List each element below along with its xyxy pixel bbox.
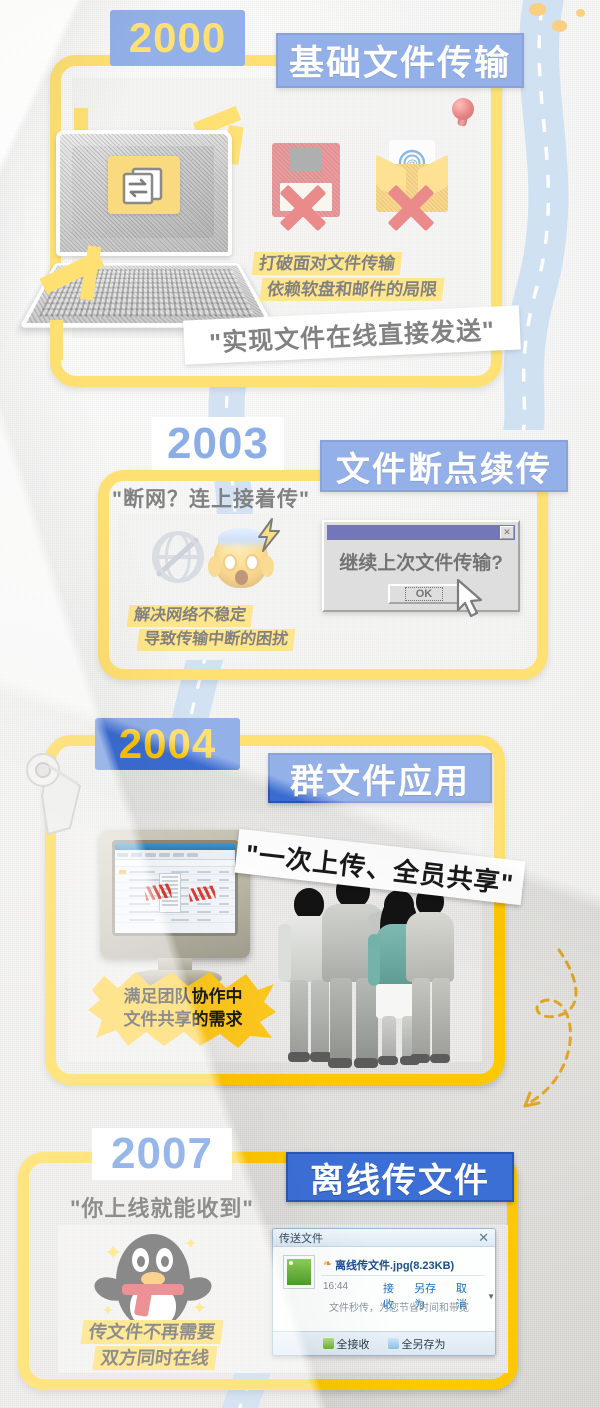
- sparkle-icon: ✦: [192, 1298, 207, 1319]
- qq-save-all-button[interactable]: 全另存为: [388, 1336, 446, 1352]
- quote-ribbon-2003: "断网？连上接着传": [106, 481, 330, 515]
- quote-label: "断网？连上接着传": [112, 483, 310, 513]
- push-pin-icon: [448, 98, 478, 134]
- quote-label: "实现文件在线直接发送": [208, 311, 495, 360]
- close-icon[interactable]: ✕: [500, 526, 514, 539]
- file-badge-icon: ❧: [323, 1257, 332, 1270]
- section-title-2003: 文件断点续传: [320, 440, 568, 492]
- red-x-icon-email: [384, 183, 438, 233]
- year-tag-2004: 2004: [95, 718, 240, 770]
- year-label: 2004: [119, 723, 216, 765]
- qq-dialog-title: 传送文件: [279, 1230, 323, 1246]
- qq-file-name: 离线传文件.jpg(8.23KB): [335, 1257, 454, 1273]
- close-icon[interactable]: ✕: [478, 1230, 489, 1246]
- sparkle-icon: ✦: [184, 1234, 197, 1254]
- section-title-label: 离线传文件: [310, 1153, 490, 1202]
- windows-dialog-2003[interactable]: ✕ 继续上次文件传输? OK: [322, 520, 520, 612]
- binder-clip-icon: [18, 742, 100, 857]
- save-icon: [388, 1338, 399, 1349]
- caption-2000: 打破面对文件传输 依赖软盘和邮件的局限: [253, 252, 435, 301]
- download-icon: [323, 1338, 334, 1349]
- year-label: 2000: [129, 17, 226, 59]
- qq-transfer-dialog[interactable]: 传送文件 ✕ ❧ 离线传文件.jpg(8.23KB) 16:44 接收 另存为 …: [272, 1228, 496, 1356]
- year-tag-2000: 2000: [110, 10, 245, 66]
- crt-monitor-icon: [100, 830, 250, 990]
- quote-ribbon-2007: "你上线就能收到": [66, 1190, 282, 1224]
- caption-line: 打破面对文件传输: [252, 252, 403, 275]
- caption-2003: 解决网络不稳定 导致传输中断的困扰: [128, 605, 284, 651]
- image-file-icon: [283, 1255, 315, 1289]
- caption-2004: 满足团队协作中 文件共享的需求: [88, 968, 278, 1050]
- chevron-down-icon[interactable]: ▼: [487, 1292, 495, 1301]
- section-title-2000: 基础文件传输: [276, 33, 524, 88]
- caption-line: 传文件不再需要: [81, 1320, 224, 1344]
- lightning-bolt-icon: [256, 518, 282, 557]
- qq-file-time: 16:44: [323, 1281, 348, 1292]
- dialog-title-bar: ✕: [327, 525, 515, 540]
- globe-offline-icon: [152, 531, 204, 583]
- dot-decoration-2: [552, 20, 567, 32]
- qq-dialog-body: ❧ 离线传文件.jpg(8.23KB) 16:44 接收 另存为 取消 ▼ 文件…: [273, 1247, 495, 1331]
- crt-screen: [112, 840, 238, 936]
- section-title-2007: 离线传文件: [286, 1152, 514, 1202]
- caption-line: 导致传输中断的困扰: [137, 629, 296, 651]
- caption-line: 依赖软盘和邮件的局限: [260, 278, 445, 301]
- qq-receive-all-button[interactable]: 全接收: [323, 1336, 370, 1352]
- section-title-label: 基础文件传输: [289, 35, 511, 86]
- year-tag-2003: 2003: [152, 417, 284, 470]
- caption-line: 解决网络不稳定: [127, 605, 254, 627]
- sparkle-icon: ✦: [102, 1302, 114, 1319]
- quote-label: "你上线就能收到": [70, 1191, 254, 1223]
- qq-note: 文件秒传，为您节省时间和带宽: [329, 1299, 469, 1314]
- caption-line: 满足团队协作中: [124, 986, 243, 1009]
- dialog-message: 继续上次文件传输?: [324, 548, 518, 575]
- red-x-icon-floppy: [276, 183, 330, 233]
- qq-save-all-label: 全另存为: [402, 1336, 446, 1352]
- dashed-arrow-decoration: [495, 948, 600, 1138]
- ok-label: OK: [405, 587, 444, 601]
- year-label: 2003: [167, 422, 269, 466]
- caption-2007: 传文件不再需要 双方同时在线: [82, 1320, 222, 1370]
- caption-line: 双方同时在线: [93, 1346, 218, 1370]
- file-transfer-icon: [108, 156, 180, 214]
- infographic-page: 2000 基础文件传输: [0, 0, 600, 1408]
- qq-dialog-title-bar: 传送文件 ✕: [273, 1229, 495, 1247]
- dialog-ok-button[interactable]: OK: [388, 584, 460, 604]
- year-tag-2007: 2007: [92, 1128, 232, 1180]
- dot-decoration-1: [529, 3, 546, 16]
- file-manager-ui: [115, 843, 235, 933]
- qq-dialog-footer: 全接收 全另存为: [273, 1331, 495, 1355]
- sparkle-icon: ✦: [104, 1240, 122, 1266]
- caption-line: 文件共享的需求: [124, 1009, 243, 1032]
- section-title-label: 文件断点续传: [336, 442, 552, 491]
- section-title-2004: 群文件应用: [268, 753, 492, 803]
- year-label: 2007: [111, 1132, 213, 1176]
- retro-computer-icon: [36, 112, 262, 342]
- qq-receive-all-label: 全接收: [337, 1336, 370, 1352]
- section-title-label: 群文件应用: [290, 754, 470, 803]
- person-silhouette-4: [404, 886, 460, 1068]
- dot-decoration-3: [576, 9, 585, 17]
